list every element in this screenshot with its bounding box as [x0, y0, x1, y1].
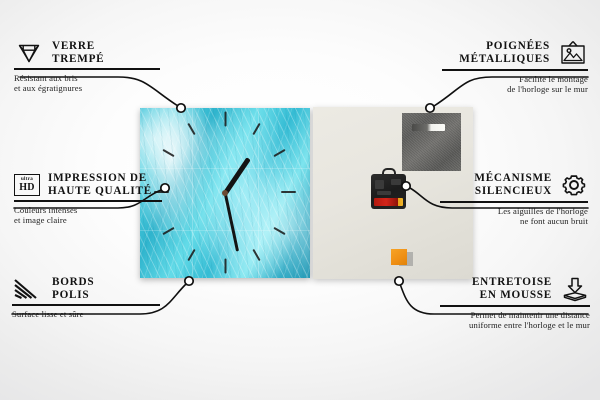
feature-title-group: POIGNÉES MÉTALLIQUES	[459, 40, 550, 65]
feature-title-line1: ENTRETOISE	[472, 276, 552, 289]
wire-node-verre-trempe	[177, 104, 185, 112]
feature-subtitle-line1: Facilite le montage	[438, 74, 588, 84]
ultra-hd-icon: ultra HD	[14, 174, 40, 196]
feature-header: ultra HD IMPRESSION DE HAUTE QUALITÉ	[14, 172, 166, 197]
feature-title-line1: VERRE	[52, 40, 104, 53]
feature-title-line2: EN MOUSSE	[472, 289, 552, 302]
feature-entretoise-en-mousse[interactable]: ENTRETOISE EN MOUSSE Permet de maintenir…	[436, 276, 590, 330]
wire-node-mecanisme	[402, 182, 410, 190]
feature-title-line2: TREMPÉ	[52, 53, 104, 66]
feature-subtitle: Résistant aux bris et aux égratignures	[14, 73, 164, 94]
ultra-hd-icon-small-text: ultra	[21, 177, 33, 182]
feature-header: POIGNÉES MÉTALLIQUES	[438, 40, 588, 66]
feature-subtitle-line2: de l'horloge sur le mur	[438, 84, 588, 94]
ultra-hd-icon-main-text: HD	[19, 183, 34, 193]
feature-header: ENTRETOISE EN MOUSSE	[436, 276, 590, 302]
feature-subtitle-line2: ne font aucun bruit	[436, 216, 588, 226]
feature-subtitle: Facilite le montage de l'horloge sur le …	[438, 74, 588, 95]
feature-subtitle: Surface lisse et sûre	[12, 309, 164, 319]
feature-impression-hd[interactable]: ultra HD IMPRESSION DE HAUTE QUALITÉ Cou…	[14, 172, 166, 226]
feature-subtitle: Permet de maintenir une distance uniform…	[436, 310, 590, 331]
feature-title-group: ENTRETOISE EN MOUSSE	[472, 276, 552, 301]
feature-title-group: MÉCANISME SILENCIEUX	[474, 172, 552, 197]
feature-subtitle-line1: Couleurs intenses	[14, 205, 166, 215]
feature-divider	[440, 201, 588, 203]
diamond-icon	[14, 41, 44, 65]
feature-subtitle-line2: et image claire	[14, 215, 166, 225]
feature-subtitle-line1: Les aiguilles de l'horloge	[436, 206, 588, 216]
feature-subtitle: Couleurs intenses et image claire	[14, 205, 166, 226]
feature-divider	[14, 68, 160, 70]
feature-title-line2: SILENCIEUX	[474, 185, 552, 198]
feature-header: VERRE TREMPÉ	[14, 40, 164, 65]
feature-title-line2: MÉTALLIQUES	[459, 53, 550, 66]
feature-title-line1: BORDS	[52, 276, 94, 289]
feature-subtitle: Les aiguilles de l'horloge ne font aucun…	[436, 206, 588, 227]
feature-title-line2: POLIS	[52, 289, 94, 302]
wire-node-poignees	[426, 104, 434, 112]
feature-poignees-metalliques[interactable]: POIGNÉES MÉTALLIQUES Facilite le montage…	[438, 40, 588, 94]
feature-header: MÉCANISME SILENCIEUX	[436, 172, 588, 198]
feature-title-line2: HAUTE QUALITÉ	[48, 185, 152, 198]
feature-verre-trempe[interactable]: VERRE TREMPÉ Résistant aux bris et aux é…	[14, 40, 164, 94]
feature-divider	[12, 304, 160, 306]
wire-node-bords-polis	[185, 277, 193, 285]
feature-title-line1: IMPRESSION DE	[48, 172, 152, 185]
feature-subtitle-line1: Permet de maintenir une distance	[436, 310, 590, 320]
feature-title-group: BORDS POLIS	[52, 276, 94, 301]
feature-header: BORDS POLIS	[12, 276, 164, 301]
feature-divider	[440, 305, 590, 307]
feature-mecanisme-silencieux[interactable]: MÉCANISME SILENCIEUX Les aiguilles de l'…	[436, 172, 588, 226]
wire-node-entretoise	[395, 277, 403, 285]
press-down-pad-icon	[560, 276, 590, 302]
feature-title-line1: POIGNÉES	[459, 40, 550, 53]
gear-icon	[560, 172, 588, 198]
feature-divider	[442, 69, 588, 71]
feature-subtitle-line1: Résistant aux bris	[14, 73, 164, 83]
polished-edges-icon	[12, 277, 44, 301]
picture-frame-hanging-icon	[558, 40, 588, 66]
infographic-canvas: VERRE TREMPÉ Résistant aux bris et aux é…	[0, 0, 600, 400]
feature-title-line1: MÉCANISME	[474, 172, 552, 185]
feature-subtitle-line2: uniforme entre l'horloge et le mur	[436, 320, 590, 330]
feature-divider	[14, 200, 162, 202]
feature-bords-polis[interactable]: BORDS POLIS Surface lisse et sûre	[12, 276, 164, 319]
feature-title-group: VERRE TREMPÉ	[52, 40, 104, 65]
feature-title-group: IMPRESSION DE HAUTE QUALITÉ	[48, 172, 152, 197]
feature-subtitle-line1: Surface lisse et sûre	[12, 309, 164, 319]
feature-subtitle-line2: et aux égratignures	[14, 83, 164, 93]
